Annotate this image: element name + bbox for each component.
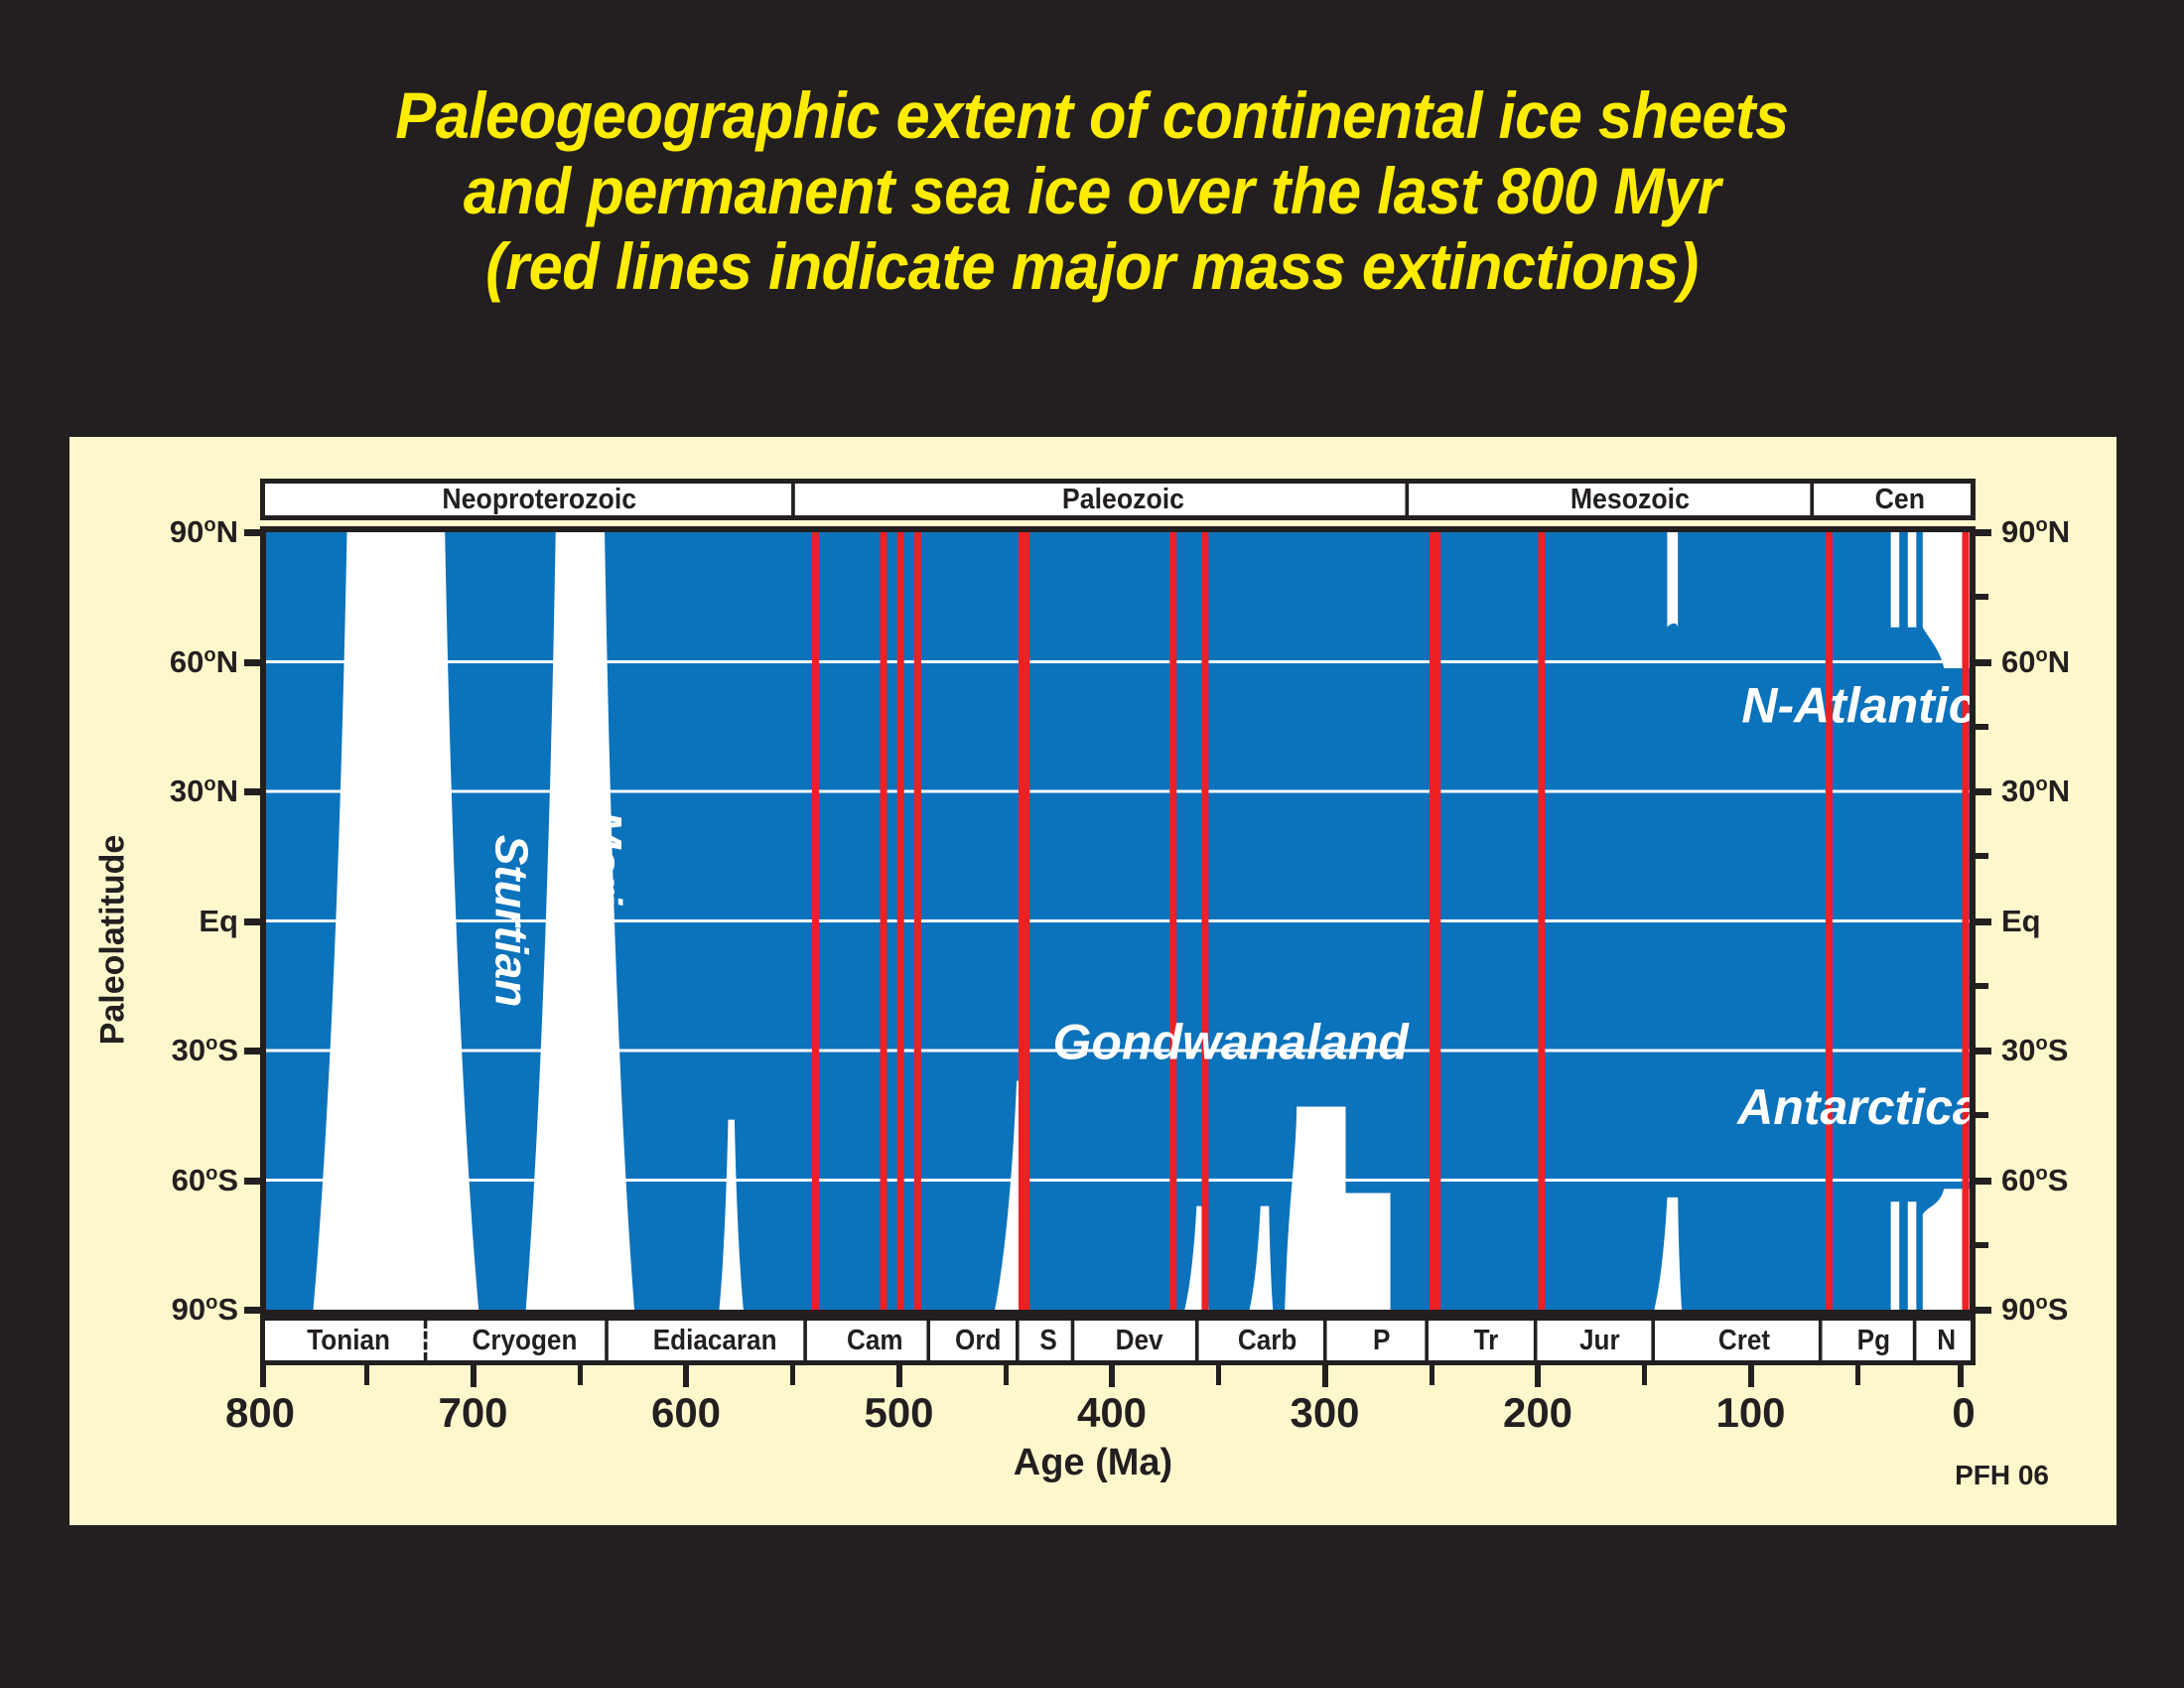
x-major-tick	[683, 1365, 689, 1387]
x-tick-label-800: 800	[225, 1389, 295, 1437]
y-tick-label-left-90S: 90oS	[69, 1292, 238, 1328]
period-label: Cam	[847, 1325, 903, 1357]
y-minor-tick	[1976, 983, 1988, 989]
x-tick-label-0: 0	[1952, 1389, 1975, 1437]
x-major-tick	[1748, 1365, 1754, 1387]
period-cell-ediacaran: Ediacaran	[626, 1321, 807, 1360]
period-cell-tonian: Tonian	[274, 1321, 428, 1360]
era-label: Paleozoic	[1062, 484, 1184, 516]
x-tick-label-100: 100	[1715, 1389, 1785, 1437]
y-tick-label-right-60N: 60oN	[2001, 643, 2070, 679]
period-cell-tr: Tr	[1438, 1321, 1537, 1360]
period-label: Carb	[1238, 1325, 1297, 1357]
y-tick-label-right-30N: 30oN	[2001, 774, 2070, 809]
period-cell-carb: Carb	[1211, 1321, 1326, 1360]
y-minor-tick	[1976, 1112, 1988, 1118]
era-label: Mesozoic	[1570, 484, 1690, 516]
y-major-tick	[1976, 788, 1991, 795]
plot-area: SturtianMarinoanGondwanalandN-AtlanticAn…	[260, 526, 1976, 1316]
x-tick-label-400: 400	[1077, 1389, 1147, 1437]
y-tick-label-left-30N: 30oN	[69, 774, 238, 809]
x-tick-label-600: 600	[651, 1389, 721, 1437]
period-cell-n: N	[1924, 1321, 1968, 1360]
period-cell-ord: Ord	[941, 1321, 1020, 1360]
period-cell-dev: Dev	[1084, 1321, 1199, 1360]
x-tick-label-300: 300	[1290, 1389, 1359, 1437]
x-major-tick	[260, 1365, 266, 1387]
ice-notch-n-atlantic-2	[1908, 532, 1917, 628]
y-tick-label-right-Eq: Eq	[2001, 904, 2041, 939]
period-label: Ediacaran	[653, 1325, 777, 1357]
y-minor-tick	[1976, 724, 1988, 730]
period-cell-cam: Cam	[823, 1321, 930, 1360]
ice-extent-svg: SturtianMarinoanGondwanalandN-AtlanticAn…	[266, 532, 1970, 1310]
x-major-tick	[1535, 1365, 1541, 1387]
x-tick-label-500: 500	[864, 1389, 933, 1437]
y-tick-label-right-90S: 90oS	[2001, 1292, 2068, 1328]
plot-label-gondwanaland: Gondwanaland	[1053, 1015, 1411, 1070]
y-major-tick	[244, 1048, 260, 1055]
title-line-1: Paleogeographic extent of continental ic…	[76, 77, 2108, 153]
period-footer-bar: TonianCryogenEdiacaranCamOrdSDevCarbPTrJ…	[260, 1316, 1976, 1365]
y-axis-title: Paleolatitude	[93, 835, 132, 1046]
x-major-tick	[1322, 1365, 1328, 1387]
era-header-bar: NeoproterozoicPaleozoicMesozoicCen	[260, 479, 1976, 520]
y-major-tick	[244, 1307, 260, 1314]
x-minor-tick	[1004, 1365, 1009, 1385]
y-major-tick	[1976, 659, 1991, 666]
period-cell-cryogen: Cryogen	[445, 1321, 608, 1360]
period-cell-cret: Cret	[1670, 1321, 1822, 1360]
era-label: Neoproterozoic	[442, 484, 636, 516]
plot-label-antarctica: Antarctica	[1735, 1079, 1970, 1135]
title-line-3: (red lines indicate major mass extinctio…	[76, 228, 2108, 304]
x-major-tick	[1109, 1365, 1115, 1387]
era-cell-cen: Cen	[1836, 484, 1965, 515]
x-minor-tick	[364, 1365, 369, 1385]
ice-band-cretaceous-n-atlantic	[1667, 532, 1678, 628]
y-major-tick	[244, 659, 260, 666]
y-minor-tick	[1976, 853, 1988, 859]
period-label: Tonian	[307, 1325, 390, 1357]
period-cell-p: P	[1338, 1321, 1429, 1360]
y-major-tick	[1976, 1307, 1991, 1314]
era-label: Cen	[1875, 484, 1925, 516]
y-tick-label-right-30S: 30oS	[2001, 1033, 2068, 1068]
period-label: Pg	[1857, 1325, 1890, 1357]
y-major-tick	[244, 1178, 260, 1185]
period-label: Ord	[955, 1325, 1001, 1357]
x-major-tick	[1958, 1365, 1964, 1387]
x-major-tick	[471, 1365, 477, 1387]
title-line-2: and permanent sea ice over the last 800 …	[76, 153, 2108, 228]
period-cell-pg: Pg	[1835, 1321, 1917, 1360]
y-major-tick	[244, 529, 260, 536]
x-axis-title: Age (Ma)	[69, 1442, 2116, 1484]
x-minor-tick	[578, 1365, 583, 1385]
era-cell-neoproterozoic: Neoproterozoic	[287, 484, 795, 515]
period-label: Cryogen	[472, 1325, 577, 1357]
period-cell-jur: Jur	[1548, 1321, 1655, 1360]
y-tick-label-right-60S: 60oS	[2001, 1162, 2068, 1197]
plot-label-marinoan: Marinoan	[580, 811, 631, 1014]
period-label: N	[1937, 1325, 1956, 1357]
plot-label-n-atlantic: N-Atlantic	[1741, 677, 1970, 733]
era-cell-mesozoic: Mesozoic	[1449, 484, 1814, 515]
x-major-tick	[896, 1365, 902, 1387]
y-major-tick	[1976, 529, 1991, 536]
plot-label-sturtian: Sturtian	[486, 835, 538, 1008]
period-label: Dev	[1116, 1325, 1163, 1357]
x-minor-tick	[1642, 1365, 1647, 1385]
x-axis-ticks: 8007006005004003002001000	[260, 1365, 1976, 1385]
credit-label: PFH 06	[1955, 1460, 2049, 1491]
y-minor-tick	[1976, 1242, 1988, 1248]
ice-notch-antarctica-2	[1908, 1201, 1917, 1310]
chart-panel: NeoproterozoicPaleozoicMesozoicCen Sturt…	[69, 437, 2116, 1525]
period-label: Jur	[1579, 1325, 1620, 1357]
y-major-tick	[244, 788, 260, 795]
y-major-tick	[1976, 918, 1991, 925]
y-tick-label-right-90N: 90oN	[2001, 514, 2070, 550]
period-cell-s: S	[1026, 1321, 1074, 1360]
x-minor-tick	[790, 1365, 795, 1385]
ice-notch-antarctica-1	[1891, 1201, 1900, 1310]
y-tick-label-left-60N: 60oN	[69, 643, 238, 679]
period-label: P	[1373, 1325, 1390, 1357]
x-minor-tick	[1216, 1365, 1221, 1385]
x-tick-label-200: 200	[1503, 1389, 1572, 1437]
x-minor-tick	[1855, 1365, 1860, 1385]
period-label: Cret	[1717, 1325, 1769, 1357]
ice-notch-n-atlantic-1	[1891, 532, 1900, 628]
y-minor-tick	[1976, 594, 1988, 600]
y-major-tick	[1976, 1178, 1991, 1185]
period-label: Tr	[1473, 1325, 1498, 1357]
y-major-tick	[1976, 1048, 1991, 1055]
y-major-tick	[244, 918, 260, 925]
chart-title: Paleogeographic extent of continental ic…	[76, 77, 2108, 304]
x-tick-label-700: 700	[438, 1389, 507, 1437]
y-tick-label-left-90N: 90oN	[69, 514, 238, 550]
era-cell-paleozoic: Paleozoic	[842, 484, 1409, 515]
y-tick-label-left-60S: 60oS	[69, 1162, 238, 1197]
period-label: S	[1040, 1325, 1057, 1357]
x-minor-tick	[1430, 1365, 1434, 1385]
